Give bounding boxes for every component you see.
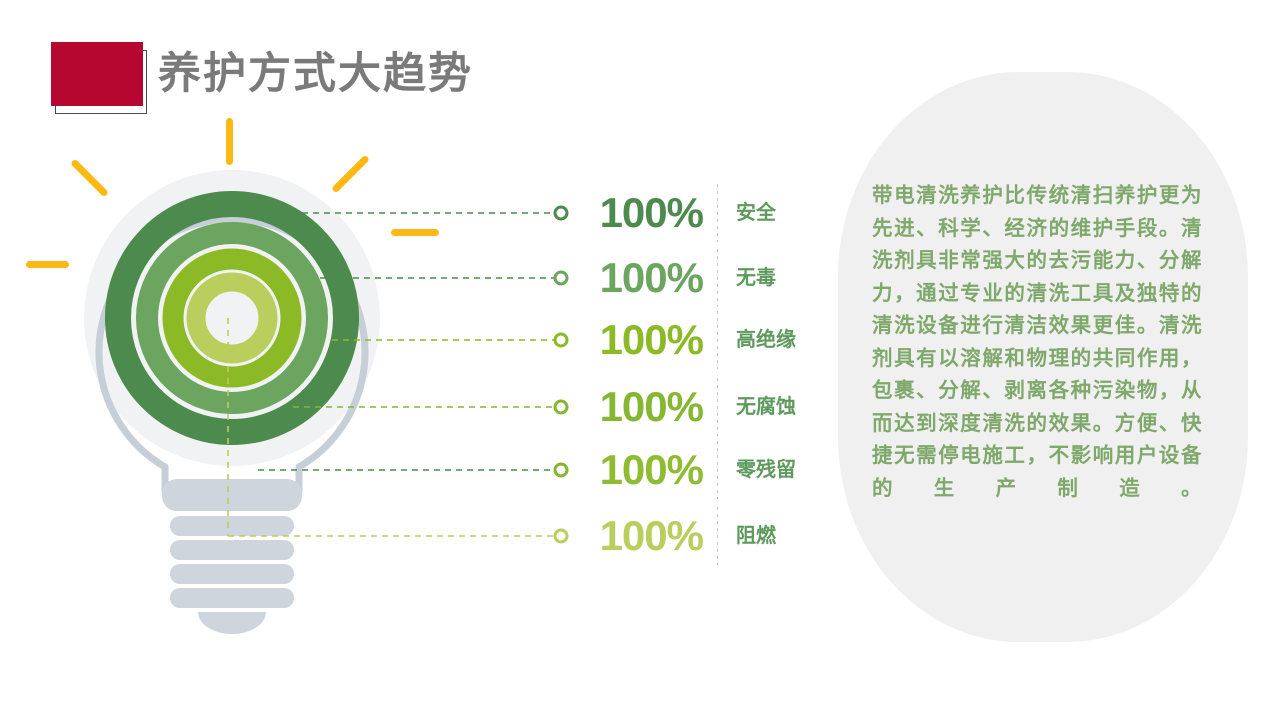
metric-value-zero-residue: 100% [575, 442, 703, 498]
metric-label-insulation: 高绝缘 [736, 312, 796, 368]
connector-dot-1 [555, 207, 567, 219]
metric-value-noncorrosive: 100% [575, 379, 703, 435]
metric-label-flame-retardant: 阻燃 [736, 508, 776, 564]
connector-dot-6 [555, 530, 567, 542]
metric-row-zero-residue[interactable]: 100% 零残留 [575, 442, 835, 498]
metric-divider [717, 441, 718, 499]
description-text: 带电清洗养护比传统清扫养护更为先进、科学、经济的维护手段。清洗剂具非常强大的去污… [872, 180, 1202, 505]
metric-value-safe: 100% [575, 185, 703, 241]
metric-value-insulation: 100% [575, 312, 703, 368]
metric-label-nontoxic: 无毒 [736, 250, 776, 306]
connector-dot-5 [555, 464, 567, 476]
metric-row-noncorrosive[interactable]: 100% 无腐蚀 [575, 379, 835, 435]
slide-canvas: 养护方式大趋势 [0, 0, 1283, 721]
metrics-list: 100% 安全 100% 无毒 100% 高绝缘 100% 无腐蚀 100% 零… [575, 175, 835, 575]
metric-row-insulation[interactable]: 100% 高绝缘 [575, 312, 835, 368]
metric-divider [717, 249, 718, 307]
metric-label-noncorrosive: 无腐蚀 [736, 379, 796, 435]
metric-label-safe: 安全 [736, 185, 776, 241]
metric-row-safe[interactable]: 100% 安全 [575, 185, 835, 241]
metric-row-flame-retardant[interactable]: 100% 阻燃 [575, 508, 835, 564]
connector-dot-2 [555, 272, 567, 284]
metric-divider [717, 378, 718, 436]
connector-dot-4 [555, 401, 567, 413]
metric-value-nontoxic: 100% [575, 250, 703, 306]
metric-label-zero-residue: 零残留 [736, 442, 796, 498]
connector-dot-3 [555, 334, 567, 346]
metric-row-nontoxic[interactable]: 100% 无毒 [575, 250, 835, 306]
metric-divider [717, 507, 718, 565]
metric-divider [717, 311, 718, 369]
metric-divider [717, 184, 718, 242]
metric-value-flame-retardant: 100% [575, 508, 703, 564]
